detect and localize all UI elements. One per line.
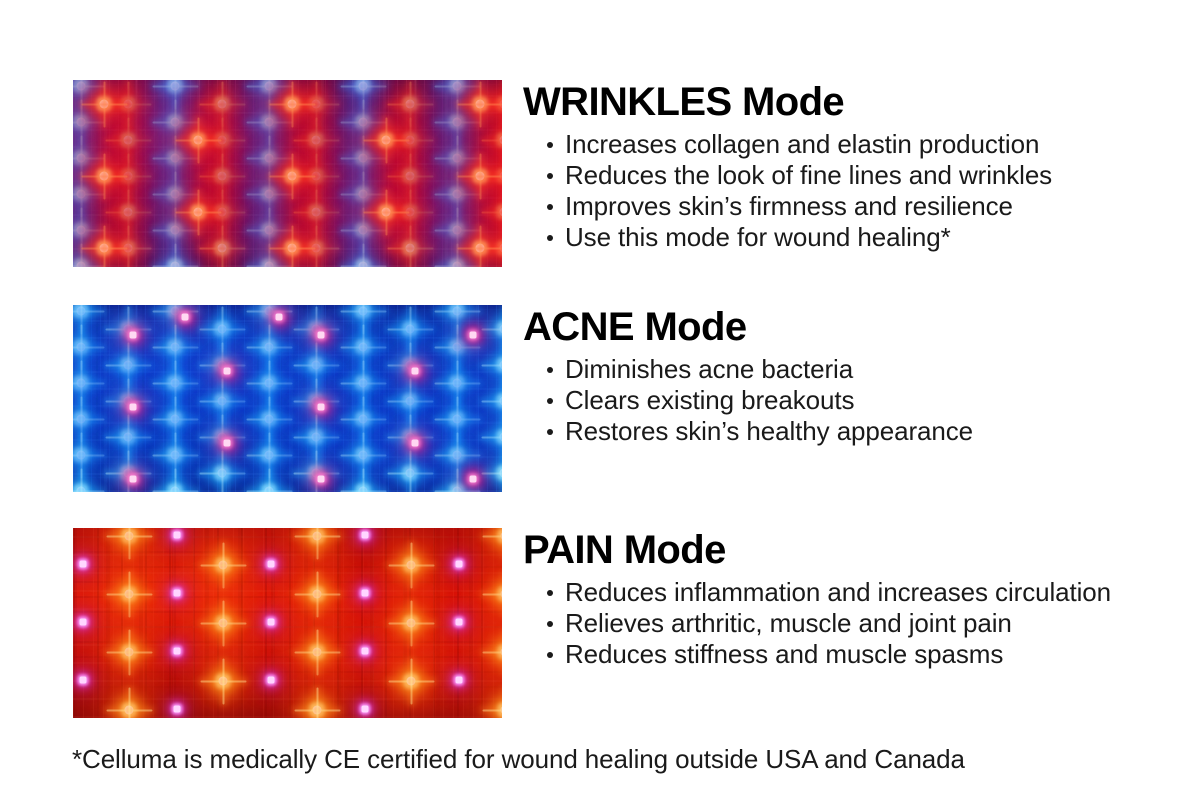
footnote-text: *Celluma is medically CE certified for w… (72, 743, 965, 775)
led-light (313, 648, 322, 657)
led-light (130, 332, 137, 339)
bullet-dot-icon (547, 590, 553, 596)
led-light (171, 415, 180, 424)
led-light (313, 532, 322, 541)
bullet-dot-icon (547, 142, 553, 148)
led-light (500, 433, 503, 442)
list-item-label: Reduces stiffness and muscle spasms (565, 639, 1003, 669)
led-light (500, 469, 503, 478)
led-light (265, 343, 274, 352)
mode-bullets-wrinkles: Increases collagen and elastin productio… (523, 122, 1183, 253)
led-light (171, 343, 180, 352)
led-light (265, 82, 274, 91)
list-item-label: Use this mode for wound healing* (565, 222, 951, 252)
led-panel-pain (73, 528, 502, 718)
led-light (359, 118, 368, 127)
list-item: Diminishes acne bacteria (523, 354, 1183, 385)
led-light (501, 590, 503, 599)
led-light (276, 314, 283, 321)
led-light (219, 561, 228, 570)
led-light (218, 469, 227, 478)
led-light (218, 397, 227, 406)
list-item-label: Reduces the look of fine lines and wrink… (565, 160, 1052, 190)
led-light (77, 343, 86, 352)
list-item: Increases collagen and elastin productio… (523, 129, 1183, 160)
led-light (359, 82, 368, 91)
led-light (453, 415, 462, 424)
led-panel-wrinkles (73, 80, 502, 267)
bullet-dot-icon (547, 398, 553, 404)
led-light (218, 244, 227, 253)
bullet-dot-icon (547, 173, 553, 179)
led-light (265, 118, 274, 127)
led-light (77, 307, 86, 316)
led-light (218, 325, 227, 334)
led-light (476, 244, 485, 253)
led-light (407, 677, 416, 686)
led-light (359, 415, 368, 424)
led-light (219, 619, 228, 628)
led-light (312, 433, 321, 442)
led-light (130, 476, 137, 483)
mode-title-wrinkles: WRINKLES Mode (523, 80, 1183, 122)
led-array-wrinkles (73, 80, 502, 267)
list-item: Reduces inflammation and increases circu… (523, 577, 1183, 608)
led-light (174, 532, 181, 539)
led-light (194, 136, 203, 145)
led-light (77, 190, 86, 199)
led-light (265, 379, 274, 388)
list-item: Reduces the look of fine lines and wrink… (523, 160, 1183, 191)
led-light (382, 208, 391, 217)
led-light (362, 648, 369, 655)
list-item: Improves skin’s firmness and resilience (523, 191, 1183, 222)
list-item: Restores skin’s healthy appearance (523, 416, 1183, 447)
led-light (265, 190, 274, 199)
mode-comparison-page: WRINKLES Mode Increases collagen and ela… (0, 0, 1200, 800)
mode-bullets-pain: Reduces inflammation and increases circu… (523, 570, 1183, 670)
led-light (406, 397, 415, 406)
led-light (501, 532, 503, 541)
list-item: Relieves arthritic, muscle and joint pai… (523, 608, 1183, 639)
led-light (77, 82, 86, 91)
led-light (476, 172, 485, 181)
led-light (77, 154, 86, 163)
led-array-pain (73, 528, 502, 718)
led-light (268, 619, 275, 626)
led-light (174, 648, 181, 655)
led-light (407, 619, 416, 628)
led-light (318, 404, 325, 411)
led-light (265, 415, 274, 424)
led-light (171, 307, 180, 316)
mode-bullets-acne: Diminishes acne bacteriaClears existing … (523, 347, 1183, 447)
led-light (265, 307, 274, 316)
led-light (218, 100, 227, 109)
led-light (406, 100, 415, 109)
led-light (453, 487, 462, 493)
led-light (77, 118, 86, 127)
led-light (171, 82, 180, 91)
mode-section-pain: PAIN Mode Reduces inflammation and incre… (0, 528, 1200, 720)
led-light (124, 208, 133, 217)
led-light (219, 677, 228, 686)
list-item-label: Diminishes acne bacteria (565, 354, 853, 384)
led-light (500, 397, 503, 406)
led-light (500, 136, 503, 145)
led-light (453, 154, 462, 163)
led-light (77, 226, 86, 235)
list-item-label: Reduces inflammation and increases circu… (565, 577, 1111, 607)
led-light (362, 706, 369, 713)
list-item-label: Relieves arthritic, muscle and joint pai… (565, 608, 1012, 638)
led-light (171, 262, 180, 268)
led-light (359, 487, 368, 493)
led-light (125, 648, 134, 657)
led-light (412, 440, 419, 447)
led-light (171, 154, 180, 163)
led-light (453, 190, 462, 199)
led-light (453, 343, 462, 352)
led-light (313, 706, 322, 715)
led-light (265, 451, 274, 460)
list-item: Clears existing breakouts (523, 385, 1183, 416)
led-light (288, 100, 297, 109)
led-light (268, 677, 275, 684)
led-light (80, 619, 87, 626)
led-light (453, 307, 462, 316)
list-item-label: Clears existing breakouts (565, 385, 854, 415)
mode-section-wrinkles: WRINKLES Mode Increases collagen and ela… (0, 80, 1200, 270)
led-light (224, 440, 231, 447)
led-light (77, 451, 86, 460)
led-light (359, 343, 368, 352)
led-light (182, 314, 189, 321)
led-light (456, 561, 463, 568)
led-light (406, 172, 415, 181)
led-light (174, 706, 181, 713)
led-light (406, 325, 415, 334)
led-light (406, 244, 415, 253)
led-light (470, 476, 477, 483)
led-panel-acne (73, 305, 502, 492)
led-light (100, 172, 109, 181)
led-light (124, 136, 133, 145)
led-light (362, 532, 369, 539)
led-light (171, 451, 180, 460)
led-light (453, 262, 462, 268)
led-light (476, 100, 485, 109)
led-light (382, 136, 391, 145)
led-light (359, 262, 368, 268)
bullet-dot-icon (547, 429, 553, 435)
led-light (453, 118, 462, 127)
led-light (359, 379, 368, 388)
led-light (125, 706, 134, 715)
led-light (313, 590, 322, 599)
led-light (125, 590, 134, 599)
led-light (500, 208, 503, 217)
led-light (453, 82, 462, 91)
led-light (100, 244, 109, 253)
led-light (453, 379, 462, 388)
led-light (359, 451, 368, 460)
mode-text-wrinkles: WRINKLES Mode Increases collagen and ela… (523, 80, 1183, 253)
led-light (312, 208, 321, 217)
led-light (77, 379, 86, 388)
led-light (268, 561, 275, 568)
led-light (407, 561, 416, 570)
list-item: Use this mode for wound healing* (523, 222, 1183, 253)
led-light (362, 590, 369, 597)
led-light (312, 361, 321, 370)
led-light (80, 677, 87, 684)
led-light (77, 415, 86, 424)
list-item-label: Increases collagen and elastin productio… (565, 129, 1039, 159)
led-light (171, 487, 180, 493)
led-light (500, 325, 503, 334)
mode-section-acne: ACNE Mode Diminishes acne bacteriaClears… (0, 305, 1200, 495)
led-light (288, 172, 297, 181)
led-light (171, 379, 180, 388)
led-light (171, 226, 180, 235)
list-item: Reduces stiffness and muscle spasms (523, 639, 1183, 670)
list-item-label: Restores skin’s healthy appearance (565, 416, 973, 446)
led-light (171, 190, 180, 199)
led-light (359, 226, 368, 235)
led-light (359, 190, 368, 199)
led-light (100, 100, 109, 109)
led-light (265, 487, 274, 493)
led-light (501, 706, 503, 715)
led-light (501, 648, 503, 657)
led-light (125, 532, 134, 541)
led-light (77, 262, 86, 268)
led-light (171, 118, 180, 127)
led-array-acne (73, 305, 502, 492)
led-light (194, 208, 203, 217)
bullet-dot-icon (547, 652, 553, 658)
led-light (318, 476, 325, 483)
mode-text-acne: ACNE Mode Diminishes acne bacteriaClears… (523, 305, 1183, 447)
led-light (218, 172, 227, 181)
mode-title-acne: ACNE Mode (523, 305, 1183, 347)
led-light (265, 154, 274, 163)
led-light (130, 404, 137, 411)
list-item-label: Improves skin’s firmness and resilience (565, 191, 1013, 221)
led-light (312, 136, 321, 145)
mode-text-pain: PAIN Mode Reduces inflammation and incre… (523, 528, 1183, 670)
led-light (174, 590, 181, 597)
led-light (359, 154, 368, 163)
led-light (500, 361, 503, 370)
bullet-dot-icon (547, 235, 553, 241)
led-light (412, 368, 419, 375)
mode-title-pain: PAIN Mode (523, 528, 1183, 570)
bullet-dot-icon (547, 621, 553, 627)
led-light (124, 361, 133, 370)
bullet-dot-icon (547, 367, 553, 373)
led-light (453, 451, 462, 460)
led-light (456, 619, 463, 626)
led-light (359, 307, 368, 316)
led-light (406, 469, 415, 478)
led-light (124, 433, 133, 442)
bullet-dot-icon (547, 204, 553, 210)
led-light (456, 677, 463, 684)
led-light (77, 487, 86, 493)
led-light (265, 262, 274, 268)
led-light (80, 561, 87, 568)
led-light (224, 368, 231, 375)
led-light (288, 244, 297, 253)
led-light (453, 226, 462, 235)
led-light (318, 332, 325, 339)
led-light (265, 226, 274, 235)
led-light (470, 332, 477, 339)
